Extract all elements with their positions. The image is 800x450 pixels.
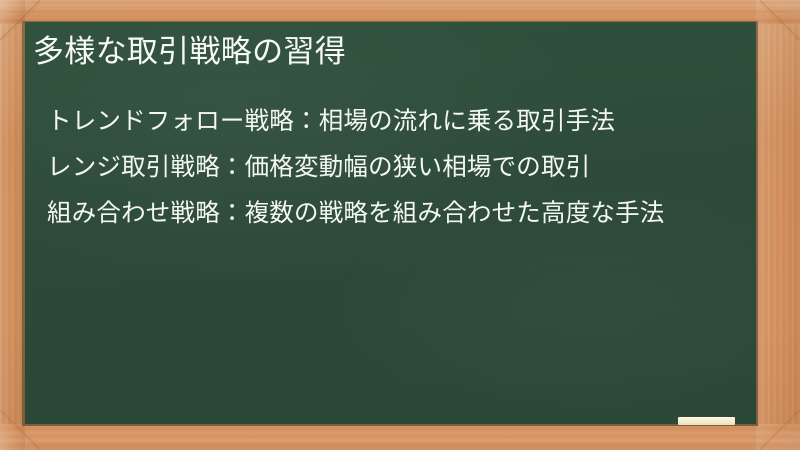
wood-frame-right bbox=[756, 0, 800, 450]
wood-frame-bottom bbox=[0, 424, 800, 450]
bullet-list: トレンドフォロー戦略：相場の流れに乗る取引手法 レンジ取引戦略：価格変動幅の狭い… bbox=[33, 102, 751, 240]
frame-miter-bottom-right-icon bbox=[760, 410, 800, 450]
chalk-stick-icon bbox=[678, 417, 735, 425]
chalkboard-surface: 多様な取引戦略の習得 トレンドフォロー戦略：相場の流れに乗る取引手法 レンジ取引… bbox=[25, 22, 756, 424]
page-title: 多様な取引戦略の習得 bbox=[33, 32, 743, 72]
frame-miter-top-right-icon bbox=[760, 0, 800, 40]
list-item: 組み合わせ戦略：複数の戦略を組み合わせた高度な手法 bbox=[33, 194, 751, 231]
list-item: トレンドフォロー戦略：相場の流れに乗る取引手法 bbox=[33, 102, 751, 139]
chalkboard-slide: 多様な取引戦略の習得 トレンドフォロー戦略：相場の流れに乗る取引手法 レンジ取引… bbox=[0, 0, 800, 450]
list-item: レンジ取引戦略：価格変動幅の狭い相場での取引 bbox=[33, 148, 751, 185]
